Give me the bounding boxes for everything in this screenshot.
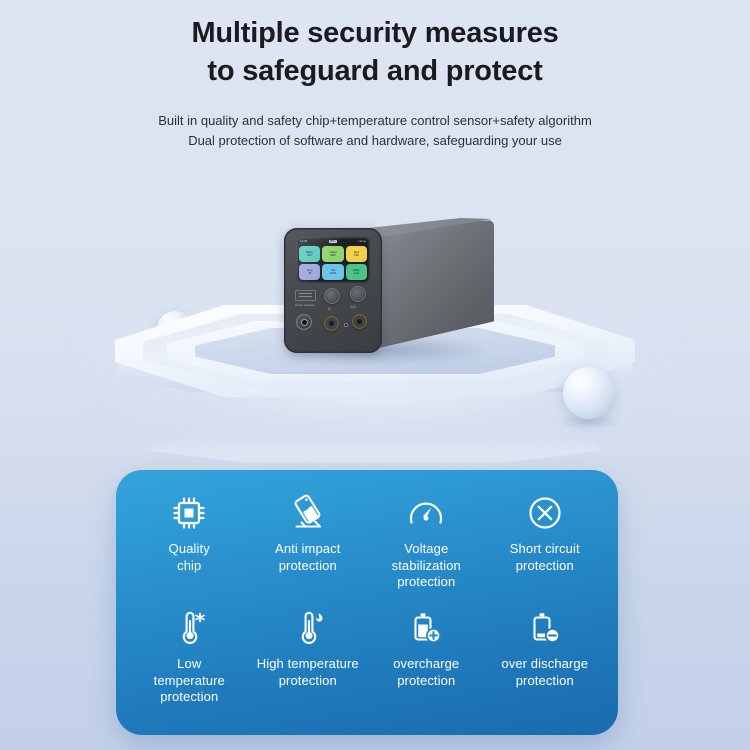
dc-power-port[interactable] — [296, 314, 312, 330]
power-interface-label: Power interface — [292, 304, 318, 308]
output-port-1[interactable] — [324, 316, 339, 331]
pedestal-reflection — [150, 431, 600, 463]
display-status-right: Home — [358, 240, 366, 243]
battery-minus-icon — [524, 607, 566, 649]
feature-item[interactable]: Short circuit protection — [486, 492, 605, 591]
circle-x-icon — [524, 492, 566, 534]
subtitle-line-2: Dual protection of software and hardware… — [0, 131, 750, 151]
display-tile-4: Temp 28 — [299, 264, 320, 280]
product-feature-page: Multiple security measures to safeguard … — [0, 0, 750, 750]
headline-line-2: to safeguard and protect — [0, 52, 750, 90]
page-title: Multiple security measures to safeguard … — [0, 14, 750, 91]
feature-label: over discharge protection — [501, 656, 588, 689]
features-row-2: Low temperature protection High temperat… — [130, 607, 604, 706]
port-icon-left: ⏻ — [328, 307, 331, 311]
thermometer-flame-icon — [287, 607, 329, 649]
features-card: Quality chip Anti impact protection Volt… — [116, 470, 618, 735]
port-icon-right: ⏻⏻ — [350, 305, 356, 309]
device-front-panel: 12:45 98% Home Battery 85%Output 20WInpu… — [284, 228, 382, 353]
decorative-sphere-right — [563, 367, 615, 419]
display-tile-grid: Battery 85%Output 20WInput 0.0ATemp 28Vo… — [299, 246, 367, 280]
feature-item[interactable]: High temperature protection — [249, 607, 368, 706]
output-port-2[interactable] — [352, 314, 367, 329]
feature-label: Quality chip — [169, 541, 210, 574]
feature-item[interactable]: Quality chip — [130, 492, 249, 591]
display-tile-2: Output 20W — [322, 246, 343, 262]
device-side-panel: AWthZ — [370, 220, 494, 350]
feature-item[interactable]: Anti impact protection — [249, 492, 368, 591]
display-status-bar: 12:45 98% Home — [299, 238, 367, 245]
feature-item[interactable]: over discharge protection — [486, 607, 605, 706]
subtitle-line-1: Built in quality and safety chip+tempera… — [158, 113, 592, 128]
display-tile-5: Volt 12.6V — [322, 264, 343, 280]
feature-item[interactable]: Voltage stabilization protection — [367, 492, 486, 591]
feature-label: High temperature protection — [257, 656, 359, 689]
device-button-left[interactable] — [324, 288, 340, 304]
display-tile-3: Input 0.0A — [346, 246, 367, 262]
features-row-1: Quality chip Anti impact protection Volt… — [130, 492, 604, 591]
indicator-led — [344, 323, 348, 327]
display-status-left: 12:45 — [300, 240, 307, 243]
feature-label: Short circuit protection — [510, 541, 580, 574]
header: Multiple security measures to safeguard … — [0, 0, 750, 151]
feature-label: Voltage stabilization protection — [392, 541, 461, 591]
display-status-battery: 98% — [329, 240, 337, 243]
headline-line-1: Multiple security measures — [191, 17, 558, 49]
thermometer-snowflake-icon — [168, 607, 210, 649]
device-display: 12:45 98% Home Battery 85%Output 20WInpu… — [296, 237, 370, 283]
display-tile-6: Mode Auto — [346, 264, 367, 280]
feature-label: Low temperature protection — [154, 656, 225, 706]
product-scene: AWthZ 12:45 98% Home Battery 85%Output 2… — [0, 150, 750, 460]
gauge-icon — [405, 492, 447, 534]
device-vent-badge — [295, 290, 316, 301]
device-button-right[interactable] — [350, 286, 366, 302]
power-station-device: AWthZ 12:45 98% Home Battery 85%Output 2… — [278, 218, 494, 363]
feature-item[interactable]: Low temperature protection — [130, 607, 249, 706]
display-tile-1: Battery 85% — [299, 246, 320, 262]
drop-impact-icon — [287, 492, 329, 534]
feature-item[interactable]: overcharge protection — [367, 607, 486, 706]
feature-label: Anti impact protection — [275, 541, 340, 574]
chip-icon — [168, 492, 210, 534]
subtitle: Built in quality and safety chip+tempera… — [0, 111, 750, 151]
brand-logo: AWthZ — [520, 286, 549, 299]
battery-plus-icon — [405, 607, 447, 649]
feature-label: overcharge protection — [393, 656, 459, 689]
